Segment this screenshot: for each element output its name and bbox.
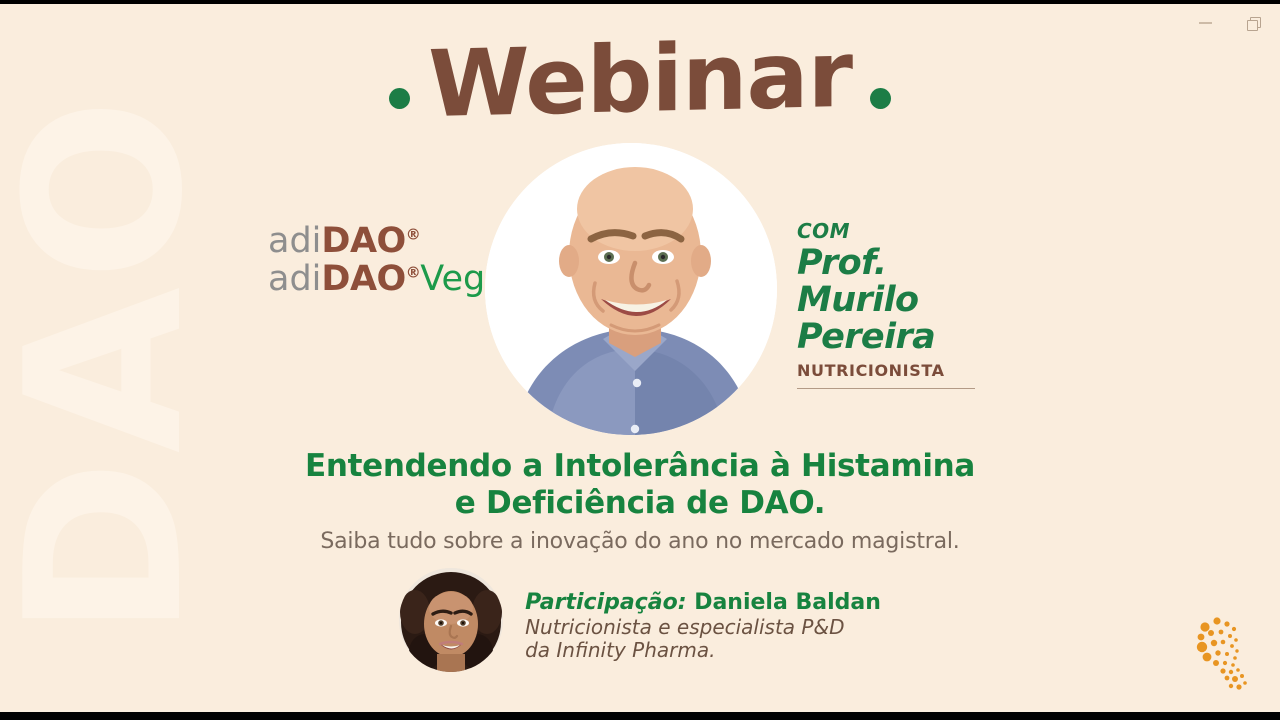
title-dot-left-icon bbox=[389, 88, 410, 109]
speaker-info-block: COM Prof. Murilo Pereira NUTRICIONISTA bbox=[797, 220, 1057, 389]
adidao-adi-1: adi bbox=[268, 221, 321, 261]
restore-button[interactable] bbox=[1242, 12, 1264, 34]
participant-desc-line-2: da Infinity Pharma. bbox=[525, 639, 881, 662]
letterbox-bar-bottom bbox=[0, 712, 1280, 720]
participant-name: Daniela Baldan bbox=[694, 590, 881, 615]
restore-icon bbox=[1247, 17, 1260, 30]
letterbox-bar-top bbox=[0, 0, 1280, 4]
minimize-icon bbox=[1199, 22, 1212, 24]
participant-label: Participação: bbox=[525, 590, 686, 615]
speaker-portrait-avatar bbox=[485, 143, 777, 435]
adidao-product-logo: adiDAO® adiDAO®Veg bbox=[268, 223, 468, 299]
speaker-row: adiDAO® adiDAO®Veg bbox=[0, 138, 1280, 438]
participant-desc-line-1: Nutricionista e especialista P&D bbox=[525, 616, 881, 639]
infinity-pharma-footprint-logo-icon bbox=[1192, 608, 1252, 694]
adidao-logo-line-1: adiDAO® bbox=[268, 223, 468, 261]
page-title: Webinar bbox=[428, 29, 852, 131]
headline-block: Entendendo a Intolerância à Histamina e … bbox=[0, 448, 1280, 554]
participant-block: Participação: Daniela Baldan Nutricionis… bbox=[0, 568, 1280, 672]
speaker-divider bbox=[797, 388, 975, 389]
adidao-dao-2: DAO bbox=[321, 259, 405, 299]
video-slide-stage: DAO Webinar adiDAO® bbox=[0, 0, 1280, 720]
adidao-veg: Veg bbox=[420, 259, 485, 299]
headline-line-2: e Deficiência de DAO. bbox=[0, 485, 1280, 522]
participant-avatar bbox=[399, 568, 503, 672]
participant-headline: Participação: Daniela Baldan bbox=[525, 590, 881, 616]
headline-line-1: Entendendo a Intolerância à Histamina bbox=[0, 448, 1280, 485]
speaker-com-label: COM bbox=[797, 220, 1057, 242]
slide-canvas: DAO Webinar adiDAO® bbox=[0, 4, 1280, 712]
headline-subtitle: Saiba tudo sobre a inovação do ano no me… bbox=[0, 529, 1280, 554]
webinar-title-row: Webinar bbox=[0, 34, 1280, 126]
adidao-dao-1: DAO bbox=[321, 221, 405, 261]
speaker-name: Prof. Murilo Pereira bbox=[797, 245, 1012, 356]
adidao-reg-2: ® bbox=[406, 263, 421, 281]
minimize-button[interactable] bbox=[1194, 12, 1216, 34]
adidao-logo-line-2: adiDAO®Veg bbox=[268, 261, 468, 299]
title-dot-right-icon bbox=[870, 88, 891, 109]
adidao-reg-1: ® bbox=[406, 225, 421, 243]
adidao-adi-2: adi bbox=[268, 259, 321, 299]
window-controls bbox=[1194, 8, 1264, 38]
speaker-role: NUTRICIONISTA bbox=[797, 361, 1057, 380]
participant-text-block: Participação: Daniela Baldan Nutricionis… bbox=[525, 568, 881, 662]
